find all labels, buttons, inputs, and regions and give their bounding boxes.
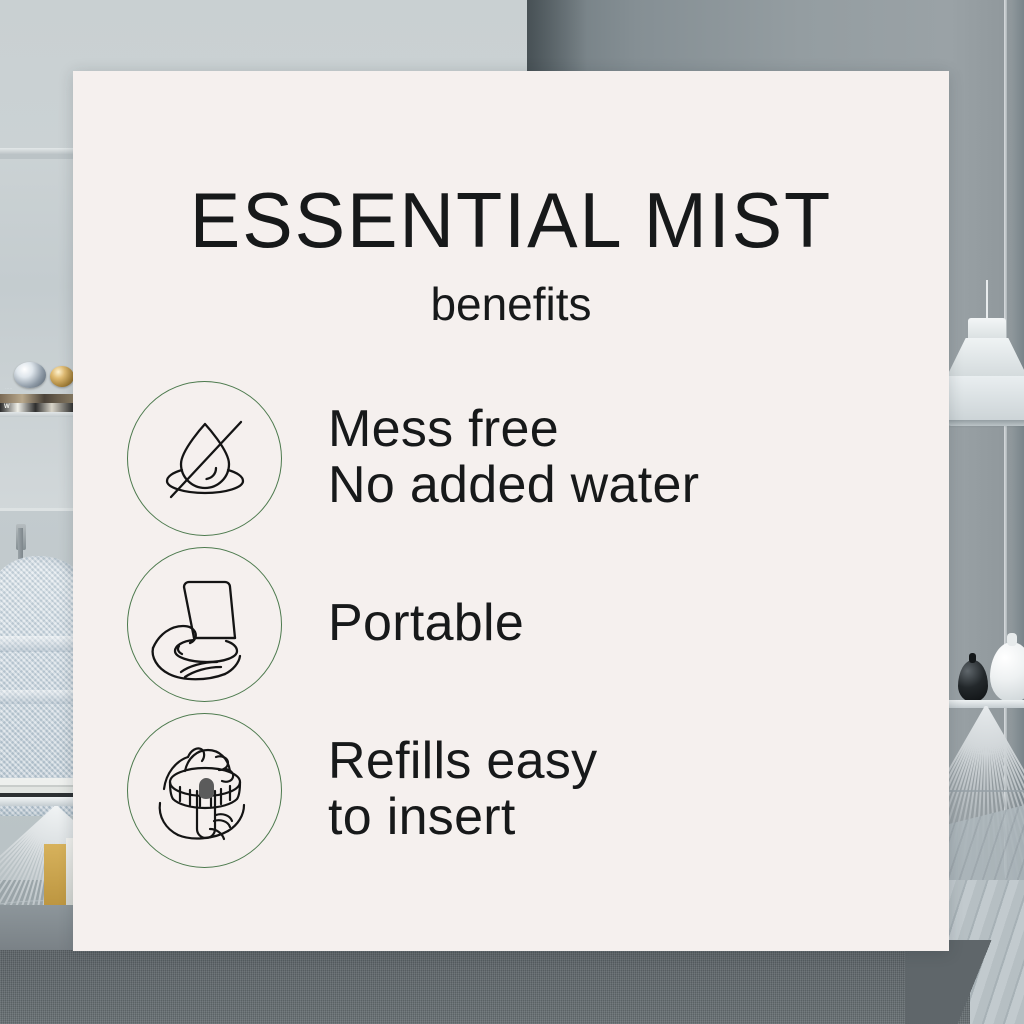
benefit-row-portable: Portable	[73, 541, 949, 707]
gray-rug	[0, 950, 970, 1024]
benefit-row-mess-free: Mess free No added water	[73, 375, 949, 541]
shelf-books-tan	[0, 394, 74, 403]
pendant-lamp-shadow	[946, 420, 1024, 428]
benefits-card: ESSENTIAL MIST benefits Mess free No add…	[73, 71, 949, 951]
rug-edge	[905, 940, 1024, 1024]
pendant-lamp-cap	[968, 318, 1006, 340]
benefit-label: Portable	[328, 596, 524, 652]
benefit-icon-circle	[127, 381, 282, 536]
decorative-sphere-gold	[50, 366, 74, 387]
benefits-list: Mess free No added water	[73, 375, 949, 873]
page-subtitle: benefits	[73, 281, 949, 327]
benefit-icon-circle	[127, 547, 282, 702]
decorative-sphere-silver	[14, 362, 46, 388]
shelf-books-black: W	[0, 403, 74, 412]
hand-inserting-refill-icon	[144, 729, 266, 851]
console-table-rail	[940, 790, 1024, 792]
benefit-label: Mess free No added water	[328, 402, 699, 513]
benefit-row-refills: Refills easy to insert	[73, 707, 949, 873]
pendant-lamp-shade	[946, 376, 1024, 426]
no-water-droplet-icon	[149, 402, 261, 514]
page-title: ESSENTIAL MIST	[86, 181, 936, 259]
benefit-label: Refills easy to insert	[328, 734, 597, 845]
benefit-icon-circle	[127, 713, 282, 868]
hand-holding-diffuser-icon	[145, 564, 265, 684]
